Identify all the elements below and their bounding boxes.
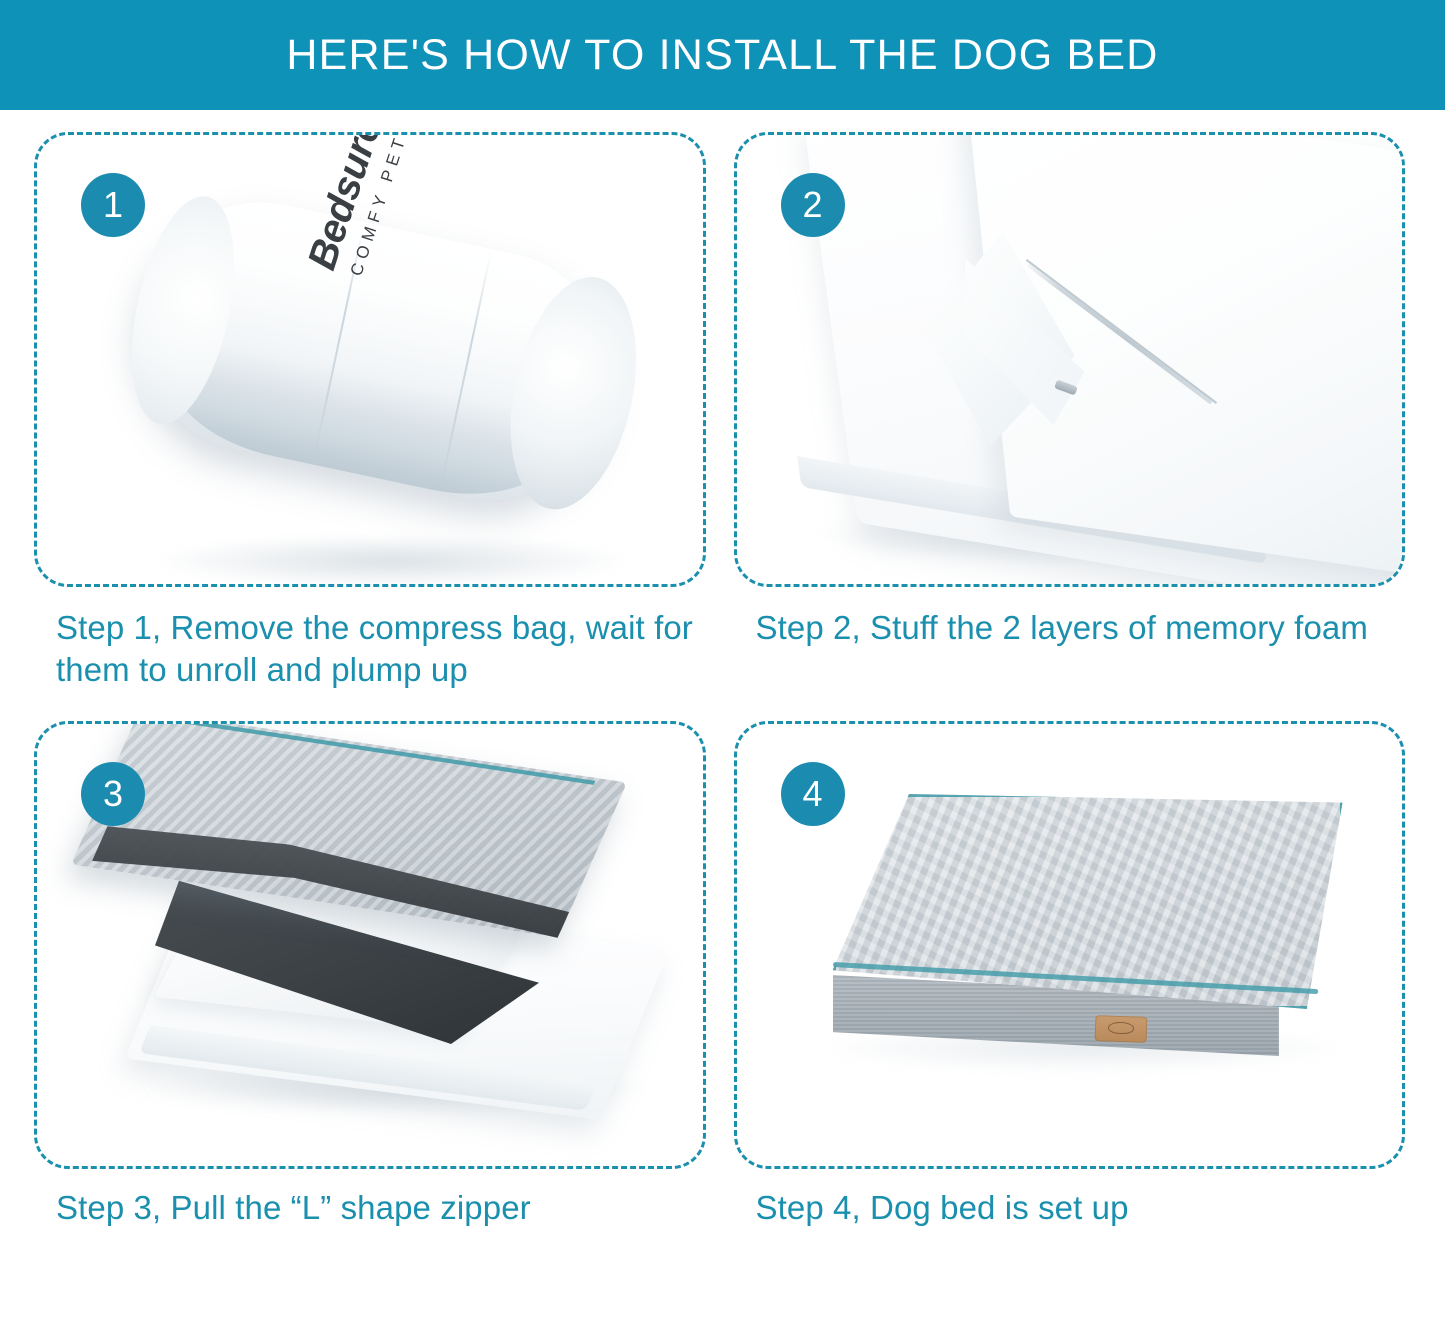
quilted-grey-cover <box>71 721 627 938</box>
step-caption-2: Step 2, Stuff the 2 layers of memory foa… <box>756 607 1402 649</box>
step-badge-2: 2 <box>781 173 845 237</box>
step-4-photo-frame: 4 <box>734 721 1406 1169</box>
finished-dog-bed <box>833 794 1343 1024</box>
step-cell-4: 4 Step 4, Dog bed is set up <box>734 721 1406 1310</box>
step-caption-3: Step 3, Pull the “L” shape zipper <box>56 1187 702 1229</box>
step-badge-4: 4 <box>781 762 845 826</box>
step-badge-3: 3 <box>81 762 145 826</box>
step-cell-2: 2 Step 2, Stuff the 2 layers of memory f… <box>734 132 1406 721</box>
compressed-roll: Bedsure® COMFY PET <box>107 180 666 570</box>
step-2-photo-frame: 2 <box>734 132 1406 587</box>
steps-grid: 1 Bedsure® COMFY PET <box>0 110 1445 1320</box>
step-caption-1: Step 1, Remove the compress bag, wait fo… <box>56 607 702 691</box>
step-1-photo-frame: 1 Bedsure® COMFY PET <box>34 132 706 587</box>
step-cell-3: 3 Step 3, Pull the “L” shape zipper <box>34 721 706 1310</box>
header-banner: HERE'S HOW TO INSTALL THE DOG BED <box>0 0 1445 110</box>
page-title: HERE'S HOW TO INSTALL THE DOG BED <box>286 31 1158 80</box>
brand-label-icon <box>1107 1022 1133 1035</box>
step-3-photo-frame: 3 <box>34 721 706 1169</box>
step-caption-4: Step 4, Dog bed is set up <box>756 1187 1402 1229</box>
step-badge-1: 1 <box>81 173 145 237</box>
step-cell-1: 1 Bedsure® COMFY PET <box>34 132 706 721</box>
brand-leather-label <box>1094 1015 1147 1043</box>
infographic-page: HERE'S HOW TO INSTALL THE DOG BED 1 <box>0 0 1445 1320</box>
